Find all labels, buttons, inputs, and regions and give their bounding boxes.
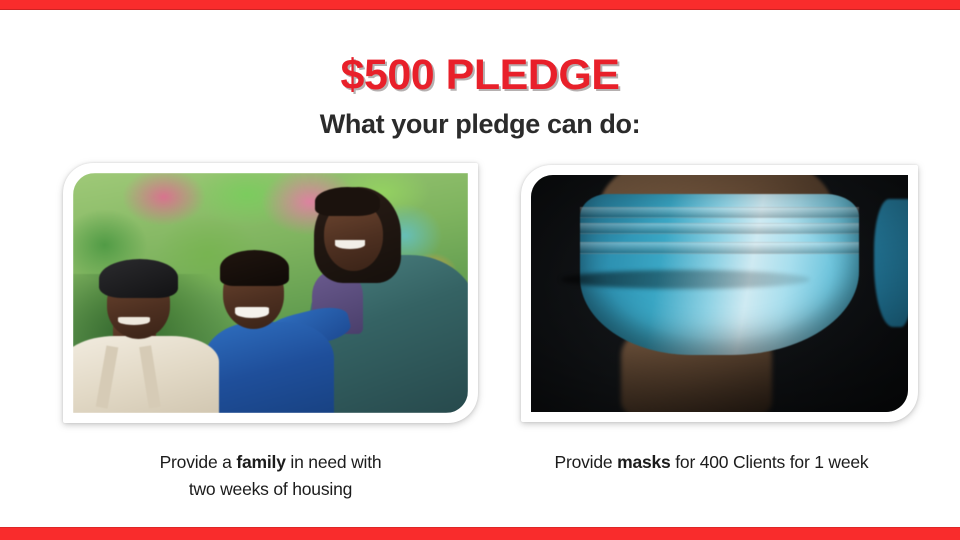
mask-photo-image	[531, 175, 908, 412]
caption-family-line2: two weeks of housing	[63, 476, 478, 503]
page-title: $500 PLEDGE	[0, 54, 960, 97]
caption-masks: Provide masks for 400 Clients for 1 week	[513, 449, 910, 476]
boy-smile	[235, 307, 269, 318]
family-photo-image	[73, 173, 468, 413]
caption-family-keyword: family	[236, 452, 285, 472]
bottom-accent-bar	[0, 527, 960, 540]
girl-hairline	[315, 187, 380, 216]
photo-vignette	[531, 175, 908, 412]
photo-family	[73, 173, 468, 413]
caption-masks-keyword: masks	[617, 452, 671, 472]
pledge-slide: $500 PLEDGE What your pledge can do:	[0, 0, 960, 540]
boy-hair	[220, 250, 289, 286]
caption-masks-suffix: for 400 Clients for 1 week	[671, 452, 869, 472]
girl-smile	[335, 240, 365, 249]
photo-frame-mask	[521, 165, 918, 422]
boy-shirt	[203, 322, 333, 413]
top-accent-bar	[0, 0, 960, 10]
caption-masks-prefix: Provide	[554, 452, 617, 472]
photo-mask	[531, 175, 908, 412]
photo-frame-family	[63, 163, 478, 423]
caption-masks-line1: Provide masks for 400 Clients for 1 week	[513, 449, 910, 476]
page-subtitle: What your pledge can do:	[0, 109, 960, 140]
caption-family-suffix: in need with	[286, 452, 382, 472]
caption-family-line1: Provide a family in need with	[63, 449, 478, 476]
caption-family: Provide a family in need with two weeks …	[63, 449, 478, 503]
caption-family-prefix: Provide a	[160, 452, 237, 472]
woman-beret	[99, 259, 178, 297]
